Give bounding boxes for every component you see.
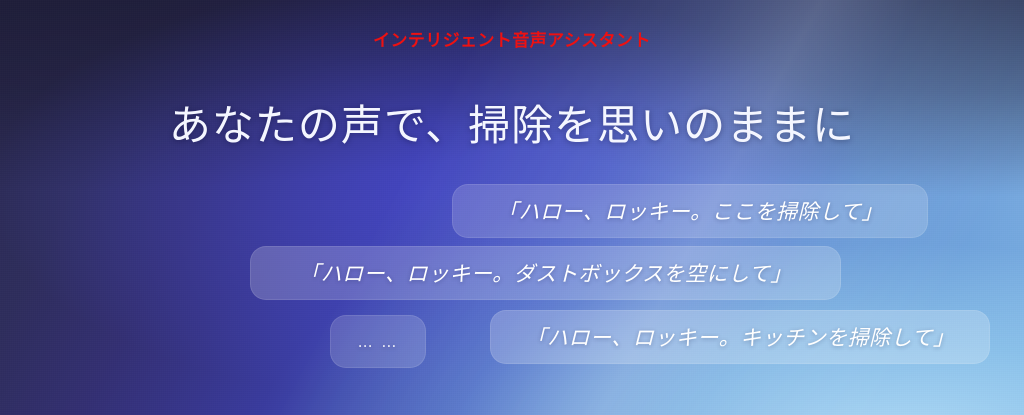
- voice-command-bubble-2: 「ハロー、ロッキー。ダストボックスを空にして」: [250, 246, 841, 300]
- page-title: あなたの声で、掃除を思いのままに: [0, 92, 1024, 153]
- voice-assistant-hero-banner: インテリジェント音声アシスタント あなたの声で、掃除を思いのままに 「ハロー、ロ…: [0, 0, 1024, 415]
- voice-command-bubble-1: 「ハロー、ロッキー。ここを掃除して」: [452, 184, 928, 238]
- voice-command-bubble-3: 「ハロー、ロッキー。キッチンを掃除して」: [490, 310, 990, 364]
- voice-command-bubble-ellipsis: … …: [330, 315, 426, 368]
- eyebrow-label: インテリジェント音声アシスタント: [0, 26, 1024, 51]
